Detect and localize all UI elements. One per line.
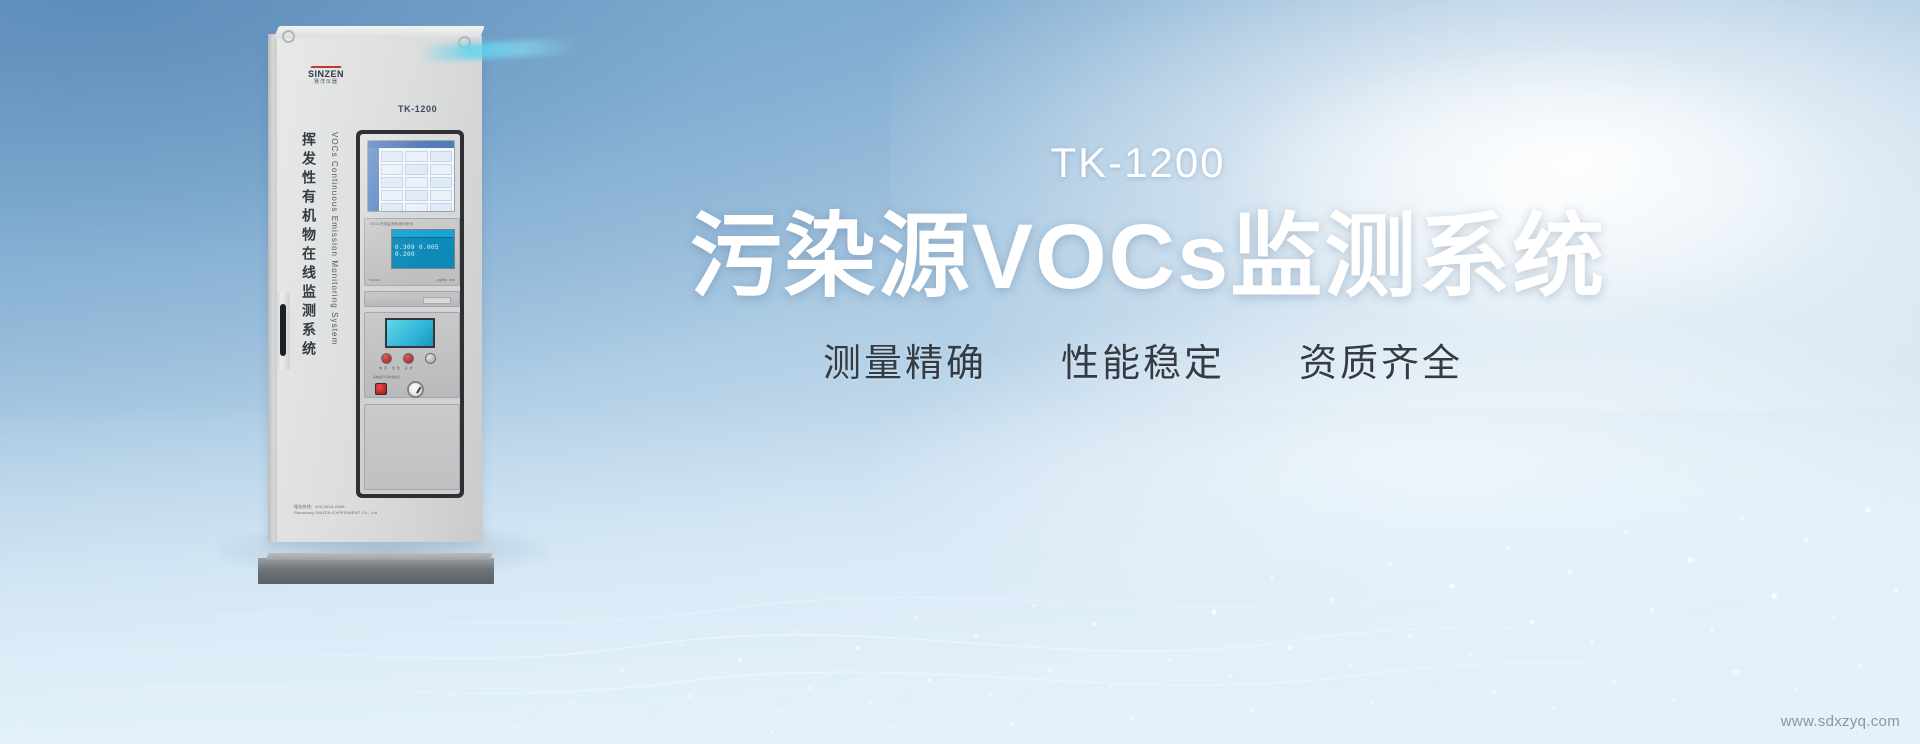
cabinet-top-face — [274, 26, 485, 38]
cabinet-service-label: 服务热线：400-0618-0686 Shandong SINZEN EXPER… — [294, 504, 444, 516]
analyzer-unit-label: ppbv nm — [438, 277, 455, 282]
cabinet-viewing-window: VOCs在线监测系统分析仪 0.309 0.005 0.200 ppbv nm … — [356, 130, 464, 498]
analyzer-module: VOCs在线监测系统分析仪 0.309 0.005 0.200 ppbv nm … — [364, 218, 460, 286]
lifting-eyelet-icon — [282, 30, 295, 43]
lower-blank-panel — [364, 404, 460, 490]
cabinet-vertical-english-text: VOCs Continuous Emission Monitoring Syst… — [330, 132, 339, 345]
analyzer-display: 0.309 0.005 0.200 — [391, 229, 455, 269]
plinth-top-face — [266, 553, 493, 560]
control-knob-group — [381, 353, 436, 364]
cabinet-door-edge — [268, 34, 277, 542]
emergency-stop-button — [375, 383, 387, 395]
brand-accent-bar — [311, 66, 342, 68]
product-model-eyebrow: TK-1200 — [528, 140, 1748, 186]
analyzer-panel-label: VOCs在线监测系统分析仪 — [370, 222, 413, 227]
brand-logo: SINZEN 赛洋仪器 — [294, 66, 358, 85]
site-watermark: www.sdxzyq.com — [1781, 713, 1900, 730]
control-knob-grey — [425, 353, 436, 364]
product-image: SINZEN 赛洋仪器 TK-1200 挥发性有机物在线监测系统 VOCs Co… — [258, 22, 498, 562]
cabinet-window-interior: VOCs在线监测系统分析仪 0.309 0.005 0.200 ppbv nm … — [360, 134, 460, 494]
pressure-gauge-icon — [407, 381, 424, 398]
hmi-data-grid — [381, 151, 452, 209]
brand-name-cn: 赛洋仪器 — [294, 80, 358, 85]
banner-headline: 污染源VOCs监测系统 — [548, 208, 1748, 307]
control-knob-labels: 电源 加热 采样 — [379, 366, 415, 370]
feature-item-certification: 资质齐全 — [1299, 342, 1463, 388]
control-knob-red — [381, 353, 392, 364]
feature-item-accuracy: 测量精确 — [823, 342, 987, 388]
hmi-touch-screen — [367, 140, 455, 212]
control-sub-label: 系统运行与状态指示 — [373, 375, 400, 379]
feature-item-stability: 性能稳定 — [1061, 342, 1225, 388]
hmi-sidebar — [368, 148, 379, 211]
control-panel-screen — [385, 318, 435, 348]
instrument-cabinet: SINZEN 赛洋仪器 TK-1200 挥发性有机物在线监测系统 VOCs Co… — [268, 34, 482, 542]
analyzer-readout-value: 0.309 0.005 0.200 — [395, 244, 454, 258]
cabinet-base-plinth — [258, 558, 494, 584]
hmi-titlebar — [368, 141, 454, 148]
cabinet-vertical-chinese-text: 挥发性有机物在线监测系统 — [302, 132, 316, 360]
analyzer-drawer-slot — [364, 291, 460, 307]
lifting-eyelet-icon — [458, 36, 471, 49]
feature-list: 测量精确 性能稳定 资质齐全 — [538, 342, 1748, 388]
product-banner: SINZEN 赛洋仪器 TK-1200 挥发性有机物在线监测系统 VOCs Co… — [0, 0, 1920, 744]
control-panel: 电源 加热 采样 系统运行与状态指示 — [364, 312, 460, 398]
control-knob-red — [403, 353, 414, 364]
banner-copy-block: TK-1200 污染源VOCs监测系统 测量精确 性能稳定 资质齐全 — [548, 140, 1748, 387]
cabinet-model-plate: TK-1200 — [398, 104, 437, 114]
analyzer-display-header — [392, 230, 454, 238]
cabinet-door-handle — [276, 292, 290, 370]
accent-light-streak — [418, 38, 579, 62]
company-name-en: Shandong SINZEN EXPERIMENT Co., Ltd — [294, 510, 444, 516]
brand-name: SINZEN — [294, 70, 358, 79]
analyzer-brand-label: SINZEN — [369, 278, 380, 282]
